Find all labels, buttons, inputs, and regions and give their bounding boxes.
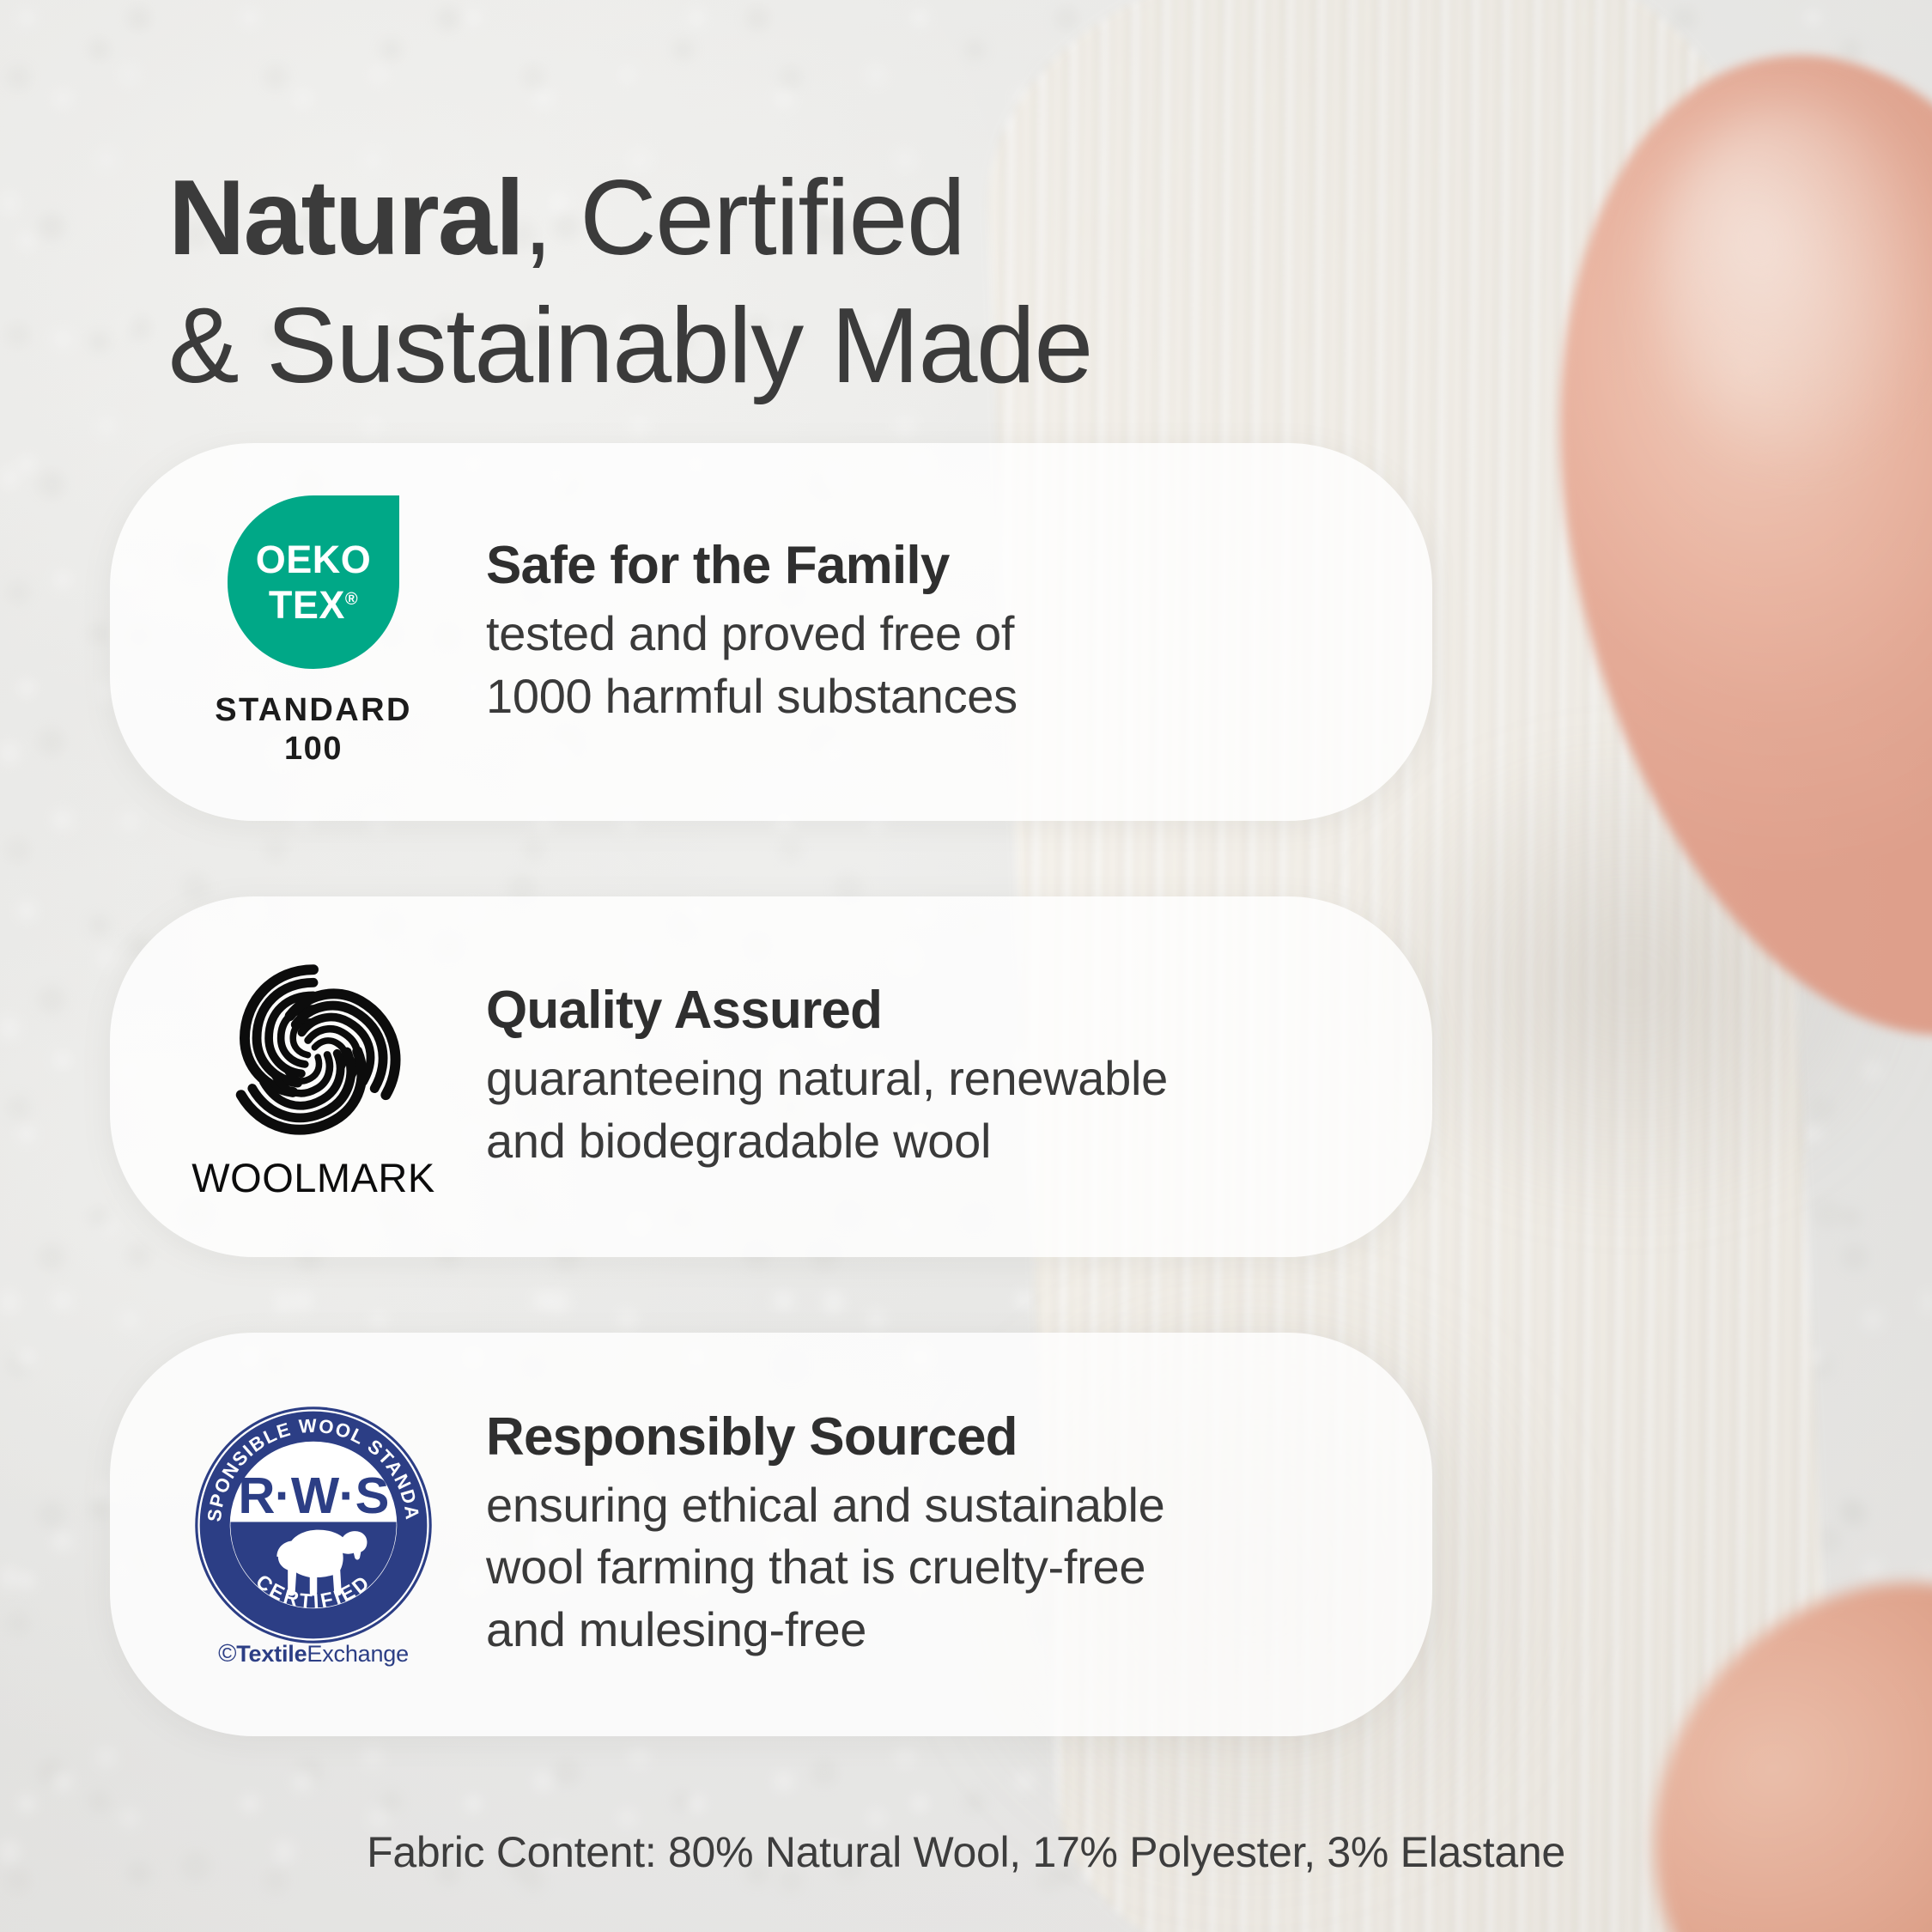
badge-column: WOOLMARK [172,957,455,1198]
rws-credit: ©TextileExchange [218,1642,409,1667]
rws-credit-bold: Textile [236,1641,307,1667]
oeko-tex-logo-line1: OEKO [256,540,372,579]
rws-credit-light: Exchange [307,1641,409,1667]
certification-card-oeko-tex[interactable]: OEKO TEX® STANDARD 100 Safe for the Fami… [110,443,1432,821]
card-title: Responsibly Sourced [486,1407,1381,1467]
oeko-tex-registered-icon: ® [345,590,358,609]
certification-card-woolmark[interactable]: WOOLMARK Quality Assured guaranteeing na… [110,896,1432,1257]
card-body: ensuring ethical and sustainable wool fa… [486,1474,1381,1662]
headline-strong: Natural [168,159,523,277]
card-text-block: Quality Assured guaranteeing natural, re… [455,981,1432,1172]
oeko-tex-logo-line2: TEX® [269,586,358,624]
woolmark-badge: WOOLMARK [191,957,434,1198]
headline-rest: , Certified [523,159,964,277]
rws-center-text: R·W·S [238,1466,388,1523]
infographic-canvas: Natural, Certified& Sustainably Made OEK… [0,0,1932,1932]
oeko-tex-logo-text: TEX [269,583,345,627]
card-title: Safe for the Family [486,536,1381,595]
card-text-block: Responsibly Sourced ensuring ethical and… [455,1407,1432,1662]
badge-column: OEKO TEX® STANDARD 100 [172,495,455,769]
rws-badge: RESPONSIBLE WOOL STANDARD CERTIFIED R·W·… [191,1403,435,1667]
oeko-tex-caption: STANDARD 100 [215,691,412,769]
certification-card-list: OEKO TEX® STANDARD 100 Safe for the Fami… [110,443,1432,1736]
badge-column: RESPONSIBLE WOOL STANDARD CERTIFIED R·W·… [172,1403,455,1667]
oeko-tex-caption-line1: STANDARD [215,692,412,728]
certification-card-rws[interactable]: RESPONSIBLE WOOL STANDARD CERTIFIED R·W·… [110,1333,1432,1736]
page-title: Natural, Certified& Sustainably Made [168,164,1559,400]
oeko-tex-caption-line2: 100 [215,730,412,769]
copyright-icon: © [218,1640,236,1668]
oeko-tex-icon: OEKO TEX® [228,495,399,669]
fabric-content-note: Fabric Content: 80% Natural Wool, 17% Po… [0,1827,1932,1877]
card-body: tested and proved free of 1000 harmful s… [486,603,1381,728]
responsible-wool-standard-icon: RESPONSIBLE WOOL STANDARD CERTIFIED R·W·… [191,1403,435,1647]
card-text-block: Safe for the Family tested and proved fr… [455,536,1432,727]
card-body: guaranteeing natural, renewable and biod… [486,1048,1381,1173]
headline-line-2: & Sustainably Made [168,292,1559,400]
card-title: Quality Assured [486,981,1381,1040]
woolmark-wordmark: WOOLMARK [191,1157,434,1198]
woolmark-icon [220,957,407,1139]
